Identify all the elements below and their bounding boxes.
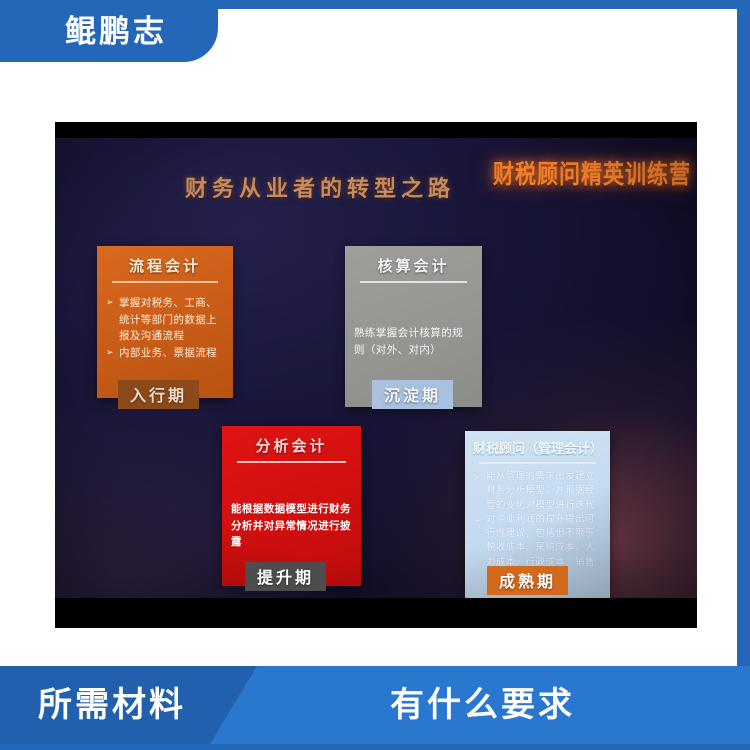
stage-label-mature: 成熟期	[487, 566, 568, 595]
stage-label-improve: 提升期	[245, 562, 326, 591]
bottom-label-materials: 所需材料	[38, 688, 186, 722]
bullet-arrow-icon: ➢	[106, 295, 114, 310]
header-brand-tab[interactable]: 鲲鹏志	[0, 0, 218, 62]
bullet-text: 能从管理的需求出发建立财务分析模型，并根据经营的变化对模型进行迭代	[486, 470, 602, 513]
bullet-arrow-icon: ➢	[106, 345, 114, 360]
card-advisor-divider	[479, 462, 596, 464]
brand-title: 鲲鹏志	[51, 16, 167, 47]
bullet-arrow-icon: ➢	[473, 513, 481, 528]
frame-right-border	[737, 0, 750, 750]
bottom-label-requirements: 有什么要求	[390, 688, 575, 722]
bullet-item: ➢ 掌握对税务、工商、统计等部门的数据上报及沟通流程	[106, 295, 224, 345]
card-process-divider	[112, 281, 218, 283]
card-analysis-title: 分析会计	[231, 435, 352, 461]
stage-label-entry: 入行期	[118, 380, 199, 409]
card-analysis-divider	[237, 461, 346, 463]
card-advisor-title: 财税顾问（管理会计）	[473, 438, 602, 462]
card-analysis-body: 能根据数据模型进行财务分析并对异常情况进行披露	[231, 501, 352, 551]
card-process-accounting: 流程会计 ➢ 掌握对税务、工商、统计等部门的数据上报及沟通流程 ➢ 内部业务、票…	[97, 246, 233, 398]
slide-photo: 财务从业者的转型之路 财税顾问精英训练营 流程会计 ➢ 掌握对税务、工商、统计等…	[55, 122, 697, 628]
card-accounting-title: 核算会计	[354, 255, 473, 281]
card-process-title: 流程会计	[106, 255, 224, 281]
bullet-text: 掌握对税务、工商、统计等部门的数据上报及沟通流程	[119, 295, 224, 345]
slide-title: 财务从业者的转型之路	[185, 171, 455, 203]
card-accounting-divider	[360, 281, 467, 283]
bullet-text: 内部业务、票据流程	[119, 345, 224, 362]
slide-logo: 财税顾问精英训练营	[493, 155, 691, 192]
card-process-body: ➢ 掌握对税务、工商、统计等部门的数据上报及沟通流程 ➢ 内部业务、票据流程	[106, 295, 224, 361]
card-accounting-body: 熟练掌握会计核算的规则（对外、对内）	[354, 325, 473, 358]
page-root: 鲲鹏志 财务从业者的转型之路 财税顾问精英训练营 流程会计 ➢ 掌握对税务、工商…	[0, 0, 750, 750]
frame-bottom-border	[0, 744, 750, 750]
bullet-item: ➢ 内部业务、票据流程	[106, 345, 224, 362]
bullet-item: ➢ 能从管理的需求出发建立财务分析模型，并根据经营的变化对模型进行迭代	[473, 470, 602, 513]
slide-canvas: 财务从业者的转型之路 财税顾问精英训练营 流程会计 ➢ 掌握对税务、工商、统计等…	[55, 138, 697, 598]
stage-label-settle: 沉淀期	[372, 380, 453, 409]
bullet-arrow-icon: ➢	[473, 470, 481, 485]
bottom-banner-group: 所需材料 有什么要求	[0, 666, 750, 744]
